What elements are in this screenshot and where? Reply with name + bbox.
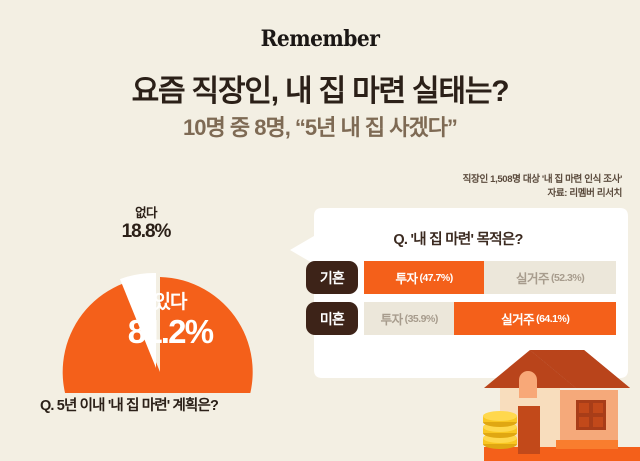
source-line-2: 자료: 리멤버 리서치 xyxy=(463,187,622,201)
bar-row-label-single: 미혼 xyxy=(306,302,358,335)
bar-segment-married-residence-label: 실거주 xyxy=(516,268,549,287)
bar-segment-married-residence-value: (52.3%) xyxy=(551,272,584,284)
source-note: 직장인 1,508명 대상 '내 집 마련 인식 조사' 자료: 리멤버 리서치 xyxy=(463,173,622,201)
bar-segment-single-investment-value: (35.9%) xyxy=(405,313,438,325)
bar-row-single: 미혼 투자 (35.9%) 실거주 (64.1%) xyxy=(306,302,616,335)
pie-label-no-value: 18.8% xyxy=(103,221,189,243)
brand-logo: Remember xyxy=(26,26,615,52)
page-title: 요즘 직장인, 내 집 마련 실태는? xyxy=(0,66,640,110)
page-subtitle: 10명 중 8명, “5년 내 집 사겠다” xyxy=(0,110,640,142)
bar-row-married: 기혼 투자 (47.7%) 실거주 (52.3%) xyxy=(306,261,616,294)
bar-chart: 기혼 투자 (47.7%) 실거주 (52.3%) 미혼 xyxy=(306,261,616,343)
bar-segment-single-investment-label: 투자 xyxy=(381,309,403,328)
bar-row-label-married: 기혼 xyxy=(306,261,358,294)
pie-label-yes-value: 81.2% xyxy=(115,314,225,350)
house-icon xyxy=(478,348,640,461)
bar-track-single: 투자 (35.9%) 실거주 (64.1%) xyxy=(364,302,616,335)
bar-segment-single-investment: 투자 (35.9%) xyxy=(364,302,454,335)
coin-stack-icon xyxy=(483,411,517,449)
bar-segment-single-residence: 실거주 (64.1%) xyxy=(454,302,616,335)
pie-chart: 없다 18.8% 있다 81.2% xyxy=(48,188,278,393)
bar-segment-married-residence: 실거주 (52.3%) xyxy=(484,261,616,294)
pie-label-yes: 있다 81.2% xyxy=(115,291,225,350)
bar-segment-married-investment: 투자 (47.7%) xyxy=(364,261,484,294)
bar-track-married: 투자 (47.7%) 실거주 (52.3%) xyxy=(364,261,616,294)
pie-chart-caption: Q. 5년 이내 '내 집 마련' 계획은? xyxy=(40,394,218,415)
bubble-question-title: Q. '내 집 마련' 목적은? xyxy=(288,228,628,249)
bar-segment-married-investment-label: 투자 xyxy=(395,268,417,287)
house-illustration xyxy=(478,348,640,461)
infographic-canvas: Remember 요즘 직장인, 내 집 마련 실태는? 10명 중 8명, “… xyxy=(0,0,640,461)
pie-label-yes-text: 있다 xyxy=(115,291,225,314)
source-line-1: 직장인 1,508명 대상 '내 집 마련 인식 조사' xyxy=(463,173,622,187)
bar-segment-single-residence-value: (64.1%) xyxy=(536,313,569,325)
pie-label-no: 없다 18.8% xyxy=(103,206,189,243)
bar-segment-married-investment-value: (47.7%) xyxy=(419,272,452,284)
bar-segment-single-residence-label: 실거주 xyxy=(501,309,534,328)
pie-label-no-text: 없다 xyxy=(103,206,189,221)
